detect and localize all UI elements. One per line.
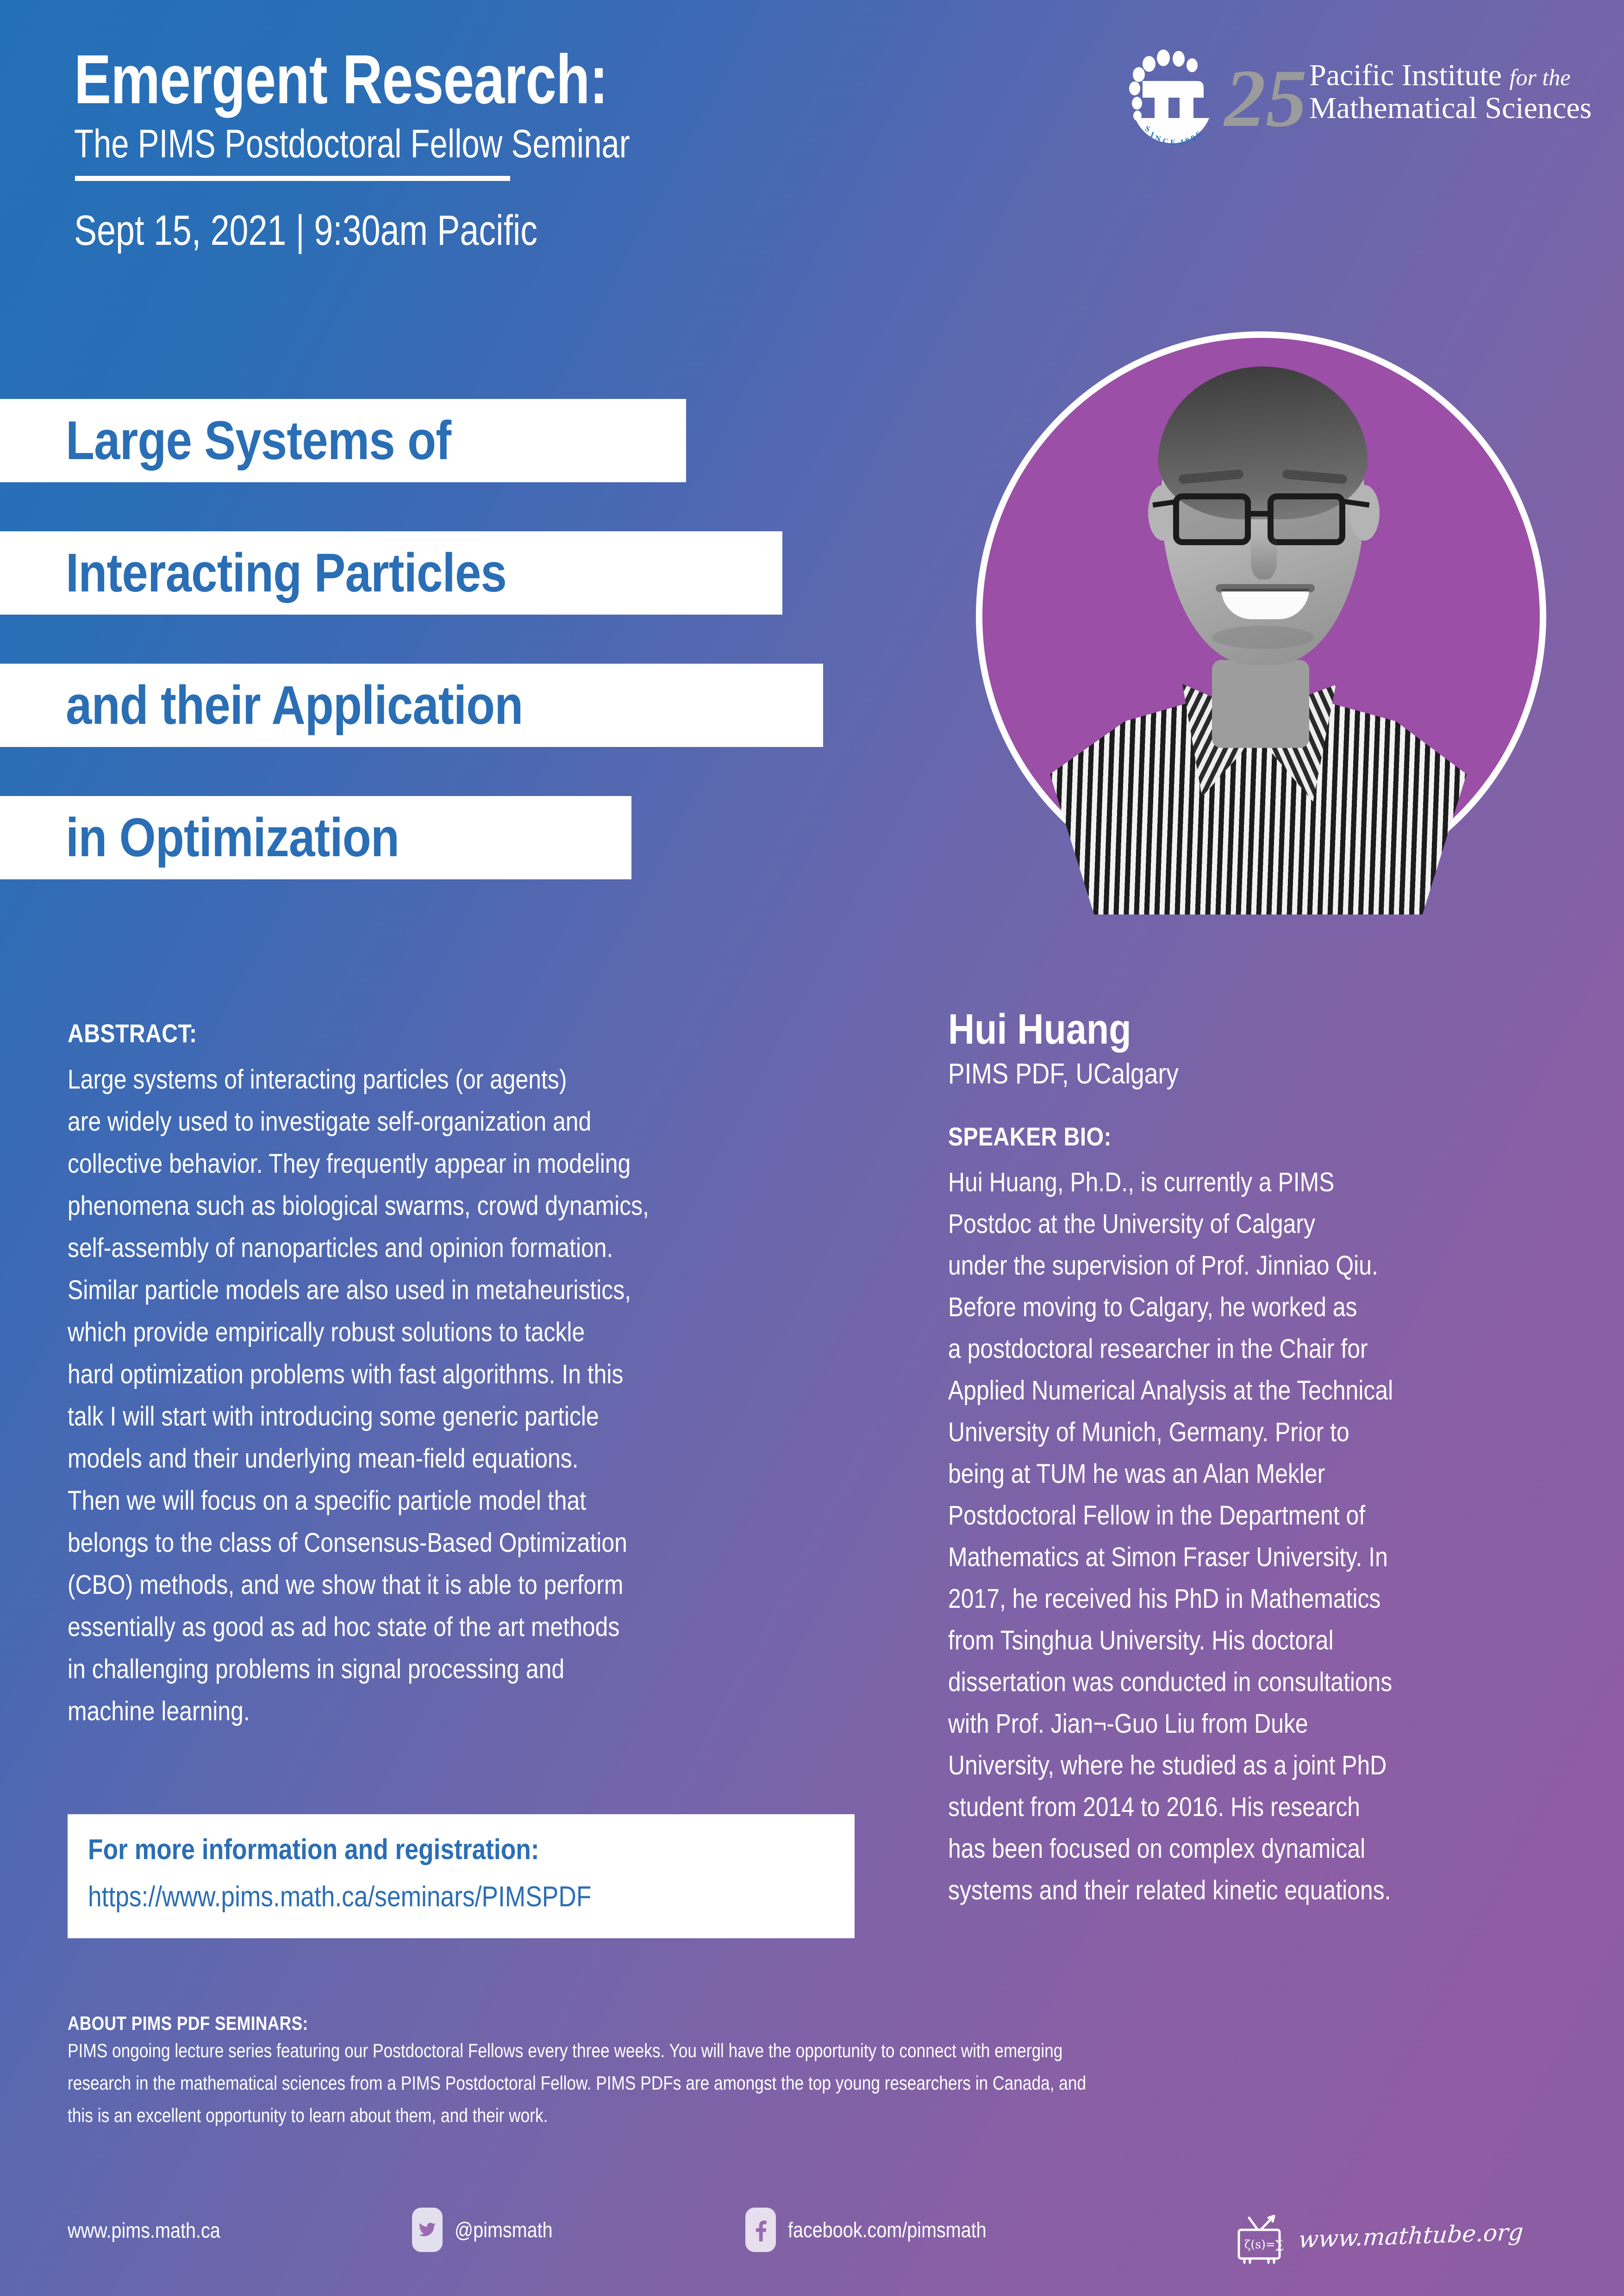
abstract-line: models and their underlying mean-field e… (68, 1437, 784, 1480)
bio-line: University, where he studied as a joint … (948, 1745, 1505, 1786)
abstract-line: self-assembly of nanoparticles and opini… (68, 1227, 784, 1269)
footer-twitter-link[interactable]: @pimsmath (412, 2208, 568, 2252)
talk-title-line-4: in Optimization (0, 796, 631, 879)
bio-line: systems and their related kinetic equati… (948, 1870, 1505, 1911)
bio-line: Postdoc at the University of Calgary (948, 1203, 1505, 1245)
abstract-line: in challenging problems in signal proces… (68, 1648, 784, 1690)
abstract-line: belongs to the class of Consensus-Based … (68, 1522, 784, 1564)
speaker-affiliation: PIMS PDF, UCalgary (948, 1056, 1505, 1092)
abstract-line: phenomena such as biological swarms, cro… (68, 1185, 784, 1227)
poster-series-subtitle: The PIMS Postdoctoral Fellow Seminar (74, 124, 630, 164)
registration-url[interactable]: https://www.pims.math.ca/seminars/PIMSPD… (88, 1883, 747, 1911)
footer-facebook-link[interactable]: facebook.com/pimsmath (745, 2208, 1019, 2252)
mathtube-formula-text: ζ(s)=∑ 1/nˢ (1244, 2238, 1287, 2251)
footer-facebook-text: facebook.com/pimsmath (788, 2217, 987, 2242)
svg-text:E: E (1170, 138, 1177, 147)
abstract-line: Then we will focus on a specific particl… (68, 1480, 784, 1522)
bio-line: from Tsinghua University. His doctoral (948, 1620, 1505, 1661)
bio-line: student from 2014 to 2016. His research (948, 1786, 1505, 1828)
footer-mathtube-text: www.mathtube.org (1298, 2219, 1524, 2253)
footer-twitter-handle: @pimsmath (455, 2217, 553, 2242)
logo-line1: Pacific Institute (1309, 58, 1502, 92)
abstract-line: hard optimization problems with fast alg… (68, 1353, 784, 1395)
abstract-section: ABSTRACT: Large systems of interacting p… (68, 1018, 901, 1732)
svg-text:C: C (1162, 137, 1170, 146)
footer-website-link[interactable]: www.pims.math.ca (68, 2218, 245, 2243)
bio-line: Before moving to Calgary, he worked as (948, 1287, 1505, 1328)
event-datetime: Sept 15, 2021 | 9:30am Pacific (74, 209, 537, 252)
speaker-photo (976, 331, 1546, 902)
talk-title-line-2: Interacting Particles (0, 531, 782, 615)
header-divider (75, 176, 510, 181)
about-section: ABOUT PIMS PDF SEMINARS: PIMS ongoing le… (68, 2012, 1563, 2132)
abstract-line: talk I will start with introducing some … (68, 1395, 784, 1437)
abstract-line: essentially as good as ad hoc state of t… (68, 1606, 784, 1648)
logo-wordmark: Pacific Institute for the Mathematical S… (1309, 59, 1592, 125)
bio-line: under the supervision of Prof. Jinniao Q… (948, 1245, 1505, 1287)
about-heading: ABOUT PIMS PDF SEMINARS: (68, 2012, 1324, 2035)
poster-series-title: Emergent Research: (74, 44, 608, 114)
footer-bar: www.pims.math.ca @pimsmath facebook.com/… (0, 2203, 1624, 2277)
bio-line: being at TUM he was an Alan Mekler (948, 1453, 1505, 1495)
bio-line: 2017, he received his PhD in Mathematics (948, 1578, 1505, 1620)
abstract-line: Similar particle models are also used in… (68, 1269, 784, 1311)
footer-mathtube-link[interactable]: ζ(s)=∑ 1/nˢ www.mathtube.org (1231, 2206, 1523, 2266)
abstract-line: collective behavior. They frequently app… (68, 1143, 784, 1185)
about-line: this is an excellent opportunity to lear… (68, 2099, 1324, 2132)
logo-line2: Mathematical Sciences (1309, 92, 1592, 124)
bio-line: Postdoctoral Fellow in the Department of (948, 1495, 1505, 1537)
abstract-heading: ABSTRACT: (68, 1018, 784, 1048)
abstract-line: are widely used to investigate self-orga… (68, 1101, 784, 1143)
abstract-line: (CBO) methods, and we show that it is ab… (68, 1564, 784, 1606)
about-line: PIMS ongoing lecture series featuring ou… (68, 2035, 1324, 2067)
facebook-icon[interactable] (745, 2208, 776, 2252)
registration-box[interactable]: For more information and registration: h… (68, 1814, 855, 1938)
registration-label: For more information and registration: (88, 1836, 747, 1864)
talk-title-line-1: Large Systems of (0, 399, 686, 482)
bio-line: Mathematics at Simon Fraser University. … (948, 1537, 1505, 1578)
speaker-section: Hui Huang PIMS PDF, UCalgary SPEAKER BIO… (948, 1008, 1596, 1911)
speaker-bio-heading: SPEAKER BIO: (948, 1121, 1505, 1151)
seminar-poster: Emergent Research: The PIMS Postdoctoral… (0, 0, 1624, 2296)
twitter-icon[interactable] (412, 2208, 443, 2252)
about-line: research in the mathematical sciences fr… (68, 2067, 1324, 2099)
talk-title-line-3: and their Application (0, 664, 823, 747)
svg-text:N: N (1154, 133, 1163, 143)
mathtube-tv-icon[interactable]: ζ(s)=∑ 1/nˢ (1231, 2206, 1287, 2266)
bio-line: has been focused on complex dynamical (948, 1828, 1505, 1870)
speaker-name: Hui Huang (948, 1008, 1505, 1052)
abstract-line: machine learning. (68, 1690, 784, 1732)
abstract-line: Large systems of interacting particles (… (68, 1058, 784, 1101)
logo-anniversary-number: 25 (1224, 57, 1307, 139)
bio-line: with Prof. Jian¬-Guo Liu from Duke (948, 1703, 1505, 1745)
photo-portrait-image (971, 276, 1551, 915)
bio-line: a postdoctoral researcher in the Chair f… (948, 1328, 1505, 1370)
bio-line: Applied Numerical Analysis at the Techni… (948, 1370, 1505, 1412)
bio-line: University of Munich, Germany. Prior to (948, 1412, 1505, 1453)
abstract-line: which provide empirically robust solutio… (68, 1311, 784, 1353)
footer-website-text: www.pims.math.ca (68, 2218, 220, 2243)
pims-logo: S I N C E 1 9 9 6 25 Pacific Institute f… (1116, 49, 1583, 155)
logo-forthe: for the (1510, 64, 1571, 90)
bio-line: Hui Huang, Ph.D., is currently a PIMS (948, 1162, 1505, 1203)
bio-line: dissertation was conducted in consultati… (948, 1661, 1505, 1703)
